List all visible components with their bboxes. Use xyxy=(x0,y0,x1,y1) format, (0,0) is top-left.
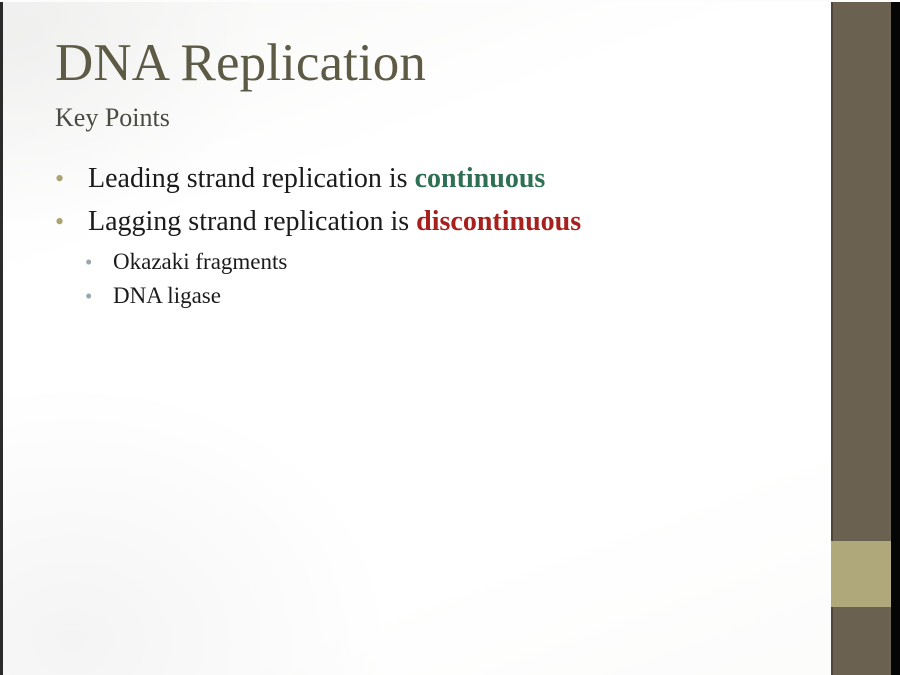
bullet-text-plain: Leading strand replication is xyxy=(88,163,415,194)
bullet-text-plain: DNA ligase xyxy=(113,283,221,308)
page-title: DNA Replication xyxy=(55,36,426,92)
sub-bullet-marker-icon: • xyxy=(85,252,113,273)
bullet-list: •Leading strand replication is continuou… xyxy=(55,162,815,315)
bullet-text-highlight: continuous xyxy=(415,163,546,194)
bullet-text-plain: Lagging strand replication is xyxy=(88,206,416,237)
decorative-sidebar xyxy=(831,0,891,675)
slide: DNA Replication Key Points •Leading stra… xyxy=(0,0,900,675)
slide-edge-left xyxy=(0,0,3,675)
bullet-text: Lagging strand replication is discontinu… xyxy=(88,205,815,238)
bullet-text-highlight: discontinuous xyxy=(416,206,581,237)
sub-bullet-item: •Okazaki fragments xyxy=(85,248,815,276)
bullet-text: Okazaki fragments xyxy=(113,248,815,276)
sub-bullet-item: •DNA ligase xyxy=(85,282,815,310)
bullet-item: •Lagging strand replication is discontin… xyxy=(55,205,815,238)
bullet-text: DNA ligase xyxy=(113,282,815,310)
slide-edge-top xyxy=(0,0,900,2)
bullet-item: •Leading strand replication is continuou… xyxy=(55,162,815,195)
bullet-text-plain: Okazaki fragments xyxy=(113,249,287,274)
bullet-marker-icon: • xyxy=(55,209,88,235)
slide-edge-right xyxy=(891,0,900,675)
bullet-marker-icon: • xyxy=(55,166,88,192)
page-subtitle: Key Points xyxy=(55,104,170,133)
sub-bullet-marker-icon: • xyxy=(85,286,113,307)
slide-content-area: DNA Replication Key Points •Leading stra… xyxy=(0,0,831,675)
bullet-text: Leading strand replication is continuous xyxy=(88,162,815,195)
sidebar-accent-block xyxy=(831,541,891,607)
